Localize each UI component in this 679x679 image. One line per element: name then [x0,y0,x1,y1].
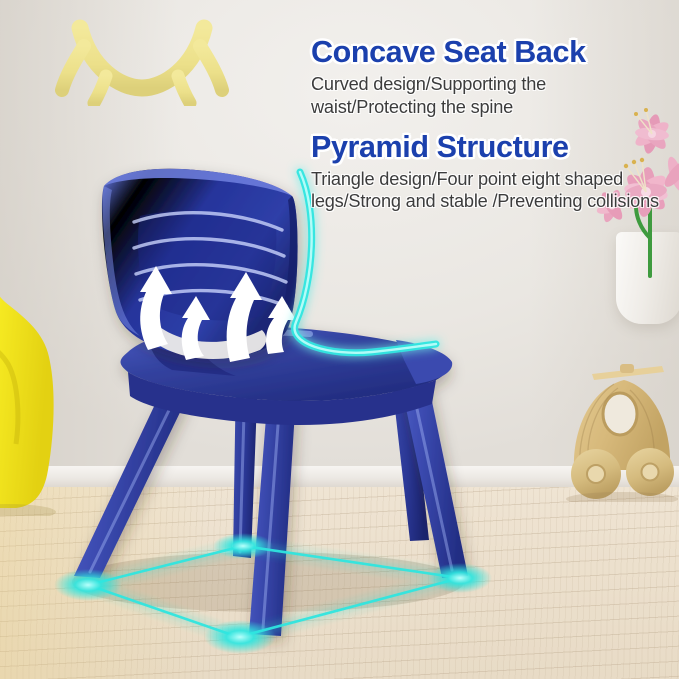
feature-description-pyramid-structure: Triangle design/Four point eight shaped … [311,168,663,212]
feature-heading-concave-seat-back: Concave Seat Back [311,36,663,68]
product-feature-image: Concave Seat Back Curved design/Supporti… [0,0,679,679]
feature-description-concave-seat-back: Curved design/Supporting the waist/Prote… [311,73,663,117]
feature-text-block: Concave Seat Back Curved design/Supporti… [311,36,663,212]
feature-heading-pyramid-structure: Pyramid Structure [311,131,663,163]
